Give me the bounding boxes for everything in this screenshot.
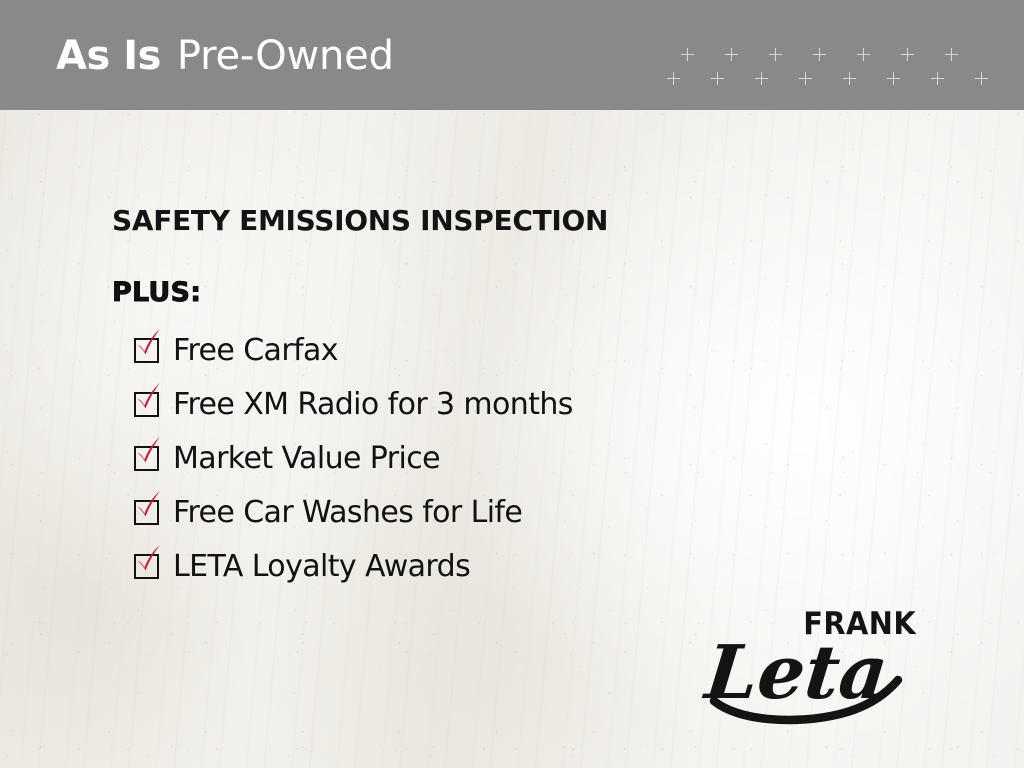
- plus-icon: [808, 46, 852, 62]
- checked-checkbox-icon: [134, 338, 159, 363]
- plus-icon: [662, 70, 706, 86]
- checked-checkbox-icon: [134, 392, 159, 417]
- plus-icon: [852, 46, 896, 62]
- plus-icon: [926, 70, 970, 86]
- benefits-list: Free Carfax Free XM Radio for 3 months M…: [134, 324, 872, 594]
- page-title: As IsPre-Owned: [56, 36, 394, 76]
- list-item: Free Carfax: [134, 324, 872, 378]
- slide-content: SAFETY EMISSIONS INSPECTION PLUS: Free C…: [112, 206, 872, 594]
- plus-icon: [794, 70, 838, 86]
- plus-icon: [970, 70, 1014, 86]
- plus-icon: [720, 46, 764, 62]
- plus-decoration-row-top: [662, 44, 1002, 64]
- checked-checkbox-icon: [134, 500, 159, 525]
- checked-checkbox-icon: [134, 554, 159, 579]
- list-item-label: Free XM Radio for 3 months: [173, 390, 573, 420]
- checked-checkbox-icon: [134, 446, 159, 471]
- plus-decoration-row-bottom: [662, 68, 1002, 88]
- svg-text:Leta: Leta: [700, 629, 892, 716]
- plus-icon: [838, 70, 882, 86]
- plus-decoration: [662, 38, 1002, 94]
- page-title-light: Pre-Owned: [177, 33, 394, 79]
- header-bar: As IsPre-Owned: [0, 0, 1024, 110]
- plus-icon: [940, 46, 984, 62]
- slide-root: As IsPre-Owned: [0, 0, 1024, 768]
- list-item-label: Free Carfax: [173, 336, 338, 366]
- list-item: LETA Loyalty Awards: [134, 540, 872, 594]
- frank-leta-logo: FRANK Leta: [700, 598, 940, 730]
- plus-icon: [706, 70, 750, 86]
- list-item: Market Value Price: [134, 432, 872, 486]
- list-item-label: LETA Loyalty Awards: [173, 552, 470, 582]
- plus-icon: [764, 46, 808, 62]
- list-item-label: Free Car Washes for Life: [173, 498, 522, 528]
- page-title-strong: As Is: [56, 33, 161, 79]
- list-item-label: Market Value Price: [173, 444, 440, 474]
- plus-icon: [676, 46, 720, 62]
- plus-icon: [750, 70, 794, 86]
- section-subheading: PLUS:: [112, 279, 872, 306]
- plus-icon: [896, 46, 940, 62]
- list-item: Free XM Radio for 3 months: [134, 378, 872, 432]
- plus-icon: [882, 70, 926, 86]
- section-heading: SAFETY EMISSIONS INSPECTION: [112, 206, 872, 237]
- list-item: Free Car Washes for Life: [134, 486, 872, 540]
